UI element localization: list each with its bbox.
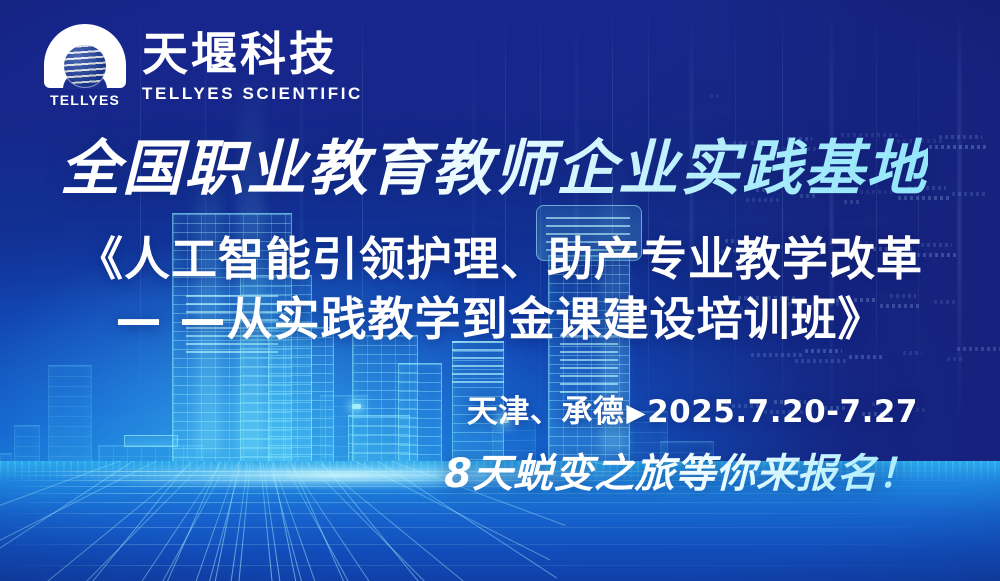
event-meta: 天津、承德▶2025.7.20-7.27	[467, 386, 918, 431]
event-locations: 天津、承德	[467, 394, 625, 430]
logo-globe-waves	[64, 45, 106, 87]
promo-poster: TELLYES 天堰科技 TELLYES SCIENTIFIC 全国职业教育教师…	[0, 0, 1000, 581]
brand-name-en: TELLYES SCIENTIFIC	[142, 84, 363, 104]
cta-tagline: 8天蜕变之旅等你来报名！	[444, 441, 918, 499]
brand-logo[interactable]: TELLYES 天堰科技 TELLYES SCIENTIFIC	[44, 24, 363, 108]
subtitle-line-1: 《人工智能引领护理、助产专业教学改革	[0, 230, 1000, 290]
dome-globe-waves-icon: TELLYES	[44, 24, 126, 108]
course-subtitle: 《人工智能引领护理、助产专业教学改革 — —从实践教学到金课建设培训班》	[0, 230, 1000, 350]
logo-mark-caption: TELLYES	[44, 92, 126, 108]
logo-wordmark: 天堰科技 TELLYES SCIENTIFIC	[142, 24, 363, 104]
subtitle-line-2: — —从实践教学到金课建设培训班》	[0, 290, 1000, 350]
event-date-range: 2025.7.20-7.27	[647, 394, 918, 430]
play-triangle-icon: ▶	[626, 398, 646, 427]
page-title: 全国职业教育教师企业实践基地	[60, 137, 928, 202]
brand-name-cn: 天堰科技	[142, 30, 363, 78]
